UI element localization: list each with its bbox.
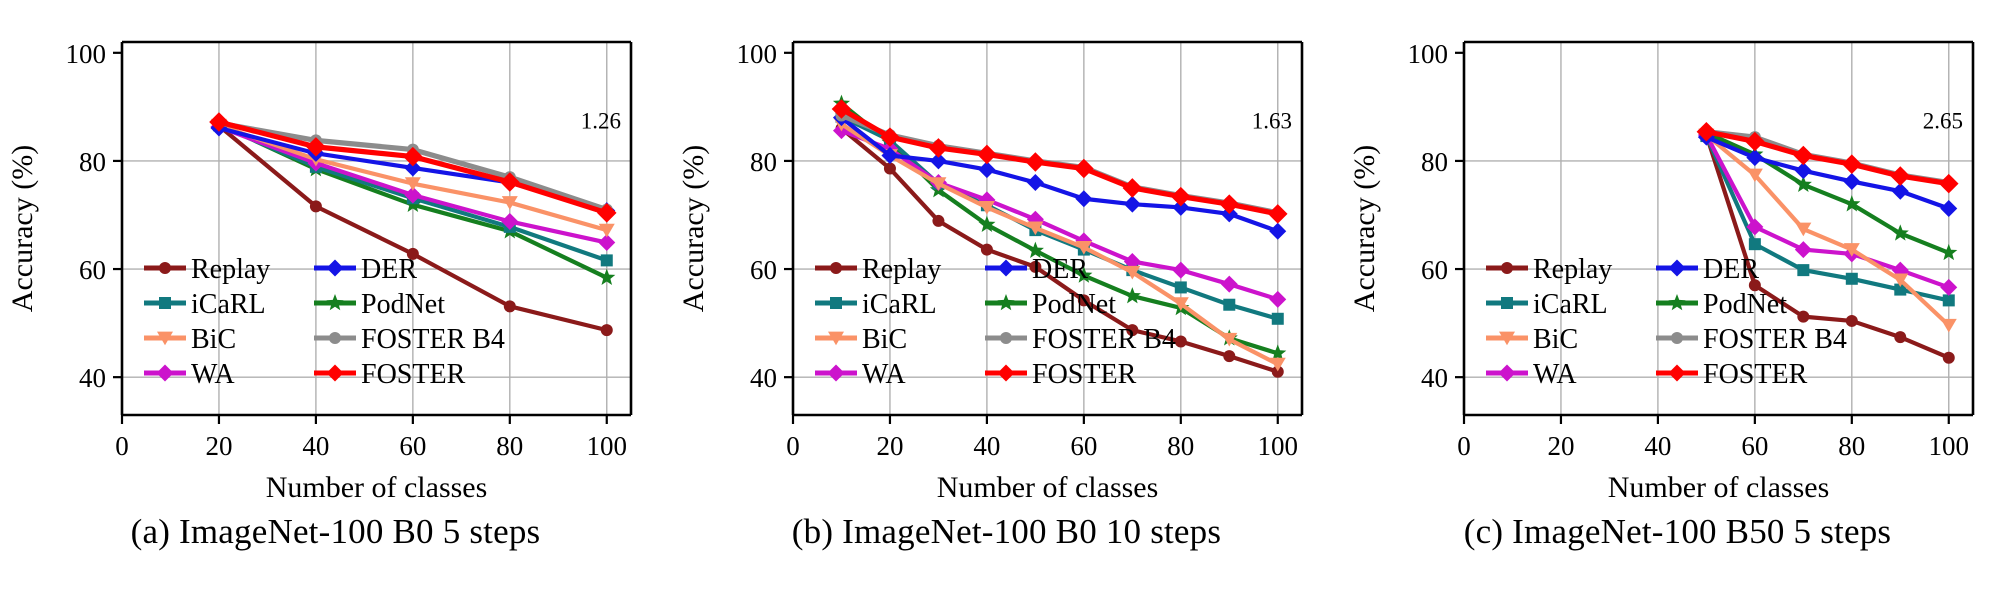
improvement-annotation: 2.65 — [1923, 108, 1963, 133]
x-axis-title: Number of classes — [1608, 471, 1830, 504]
data-point-marker — [1175, 281, 1187, 293]
data-point-marker — [830, 297, 842, 309]
x-tick-label: 0 — [115, 431, 129, 461]
data-point-marker — [329, 332, 341, 344]
chart-svg-a: 020406080100406080100Number of classesAc… — [0, 0, 671, 505]
legend-label: WA — [191, 359, 235, 390]
x-tick-label: 80 — [1838, 431, 1865, 461]
x-tick-label: 40 — [973, 431, 1000, 461]
data-point-marker — [1671, 332, 1683, 344]
improvement-annotation: 1.26 — [581, 108, 621, 133]
x-tick-label: 60 — [399, 431, 426, 461]
y-tick-label: 100 — [1408, 39, 1449, 69]
legend-label: Replay — [862, 254, 941, 285]
y-axis-title: Accuracy (%) — [6, 145, 39, 312]
data-point-marker — [159, 262, 171, 274]
data-point-marker — [159, 297, 171, 309]
x-tick-label: 0 — [786, 431, 800, 461]
data-point-marker — [830, 262, 842, 274]
data-point-marker — [932, 215, 944, 227]
y-tick-label: 80 — [1421, 147, 1448, 177]
data-point-marker — [884, 162, 896, 174]
legend-label: DER — [361, 254, 417, 285]
legend-label: FOSTER — [1703, 359, 1808, 390]
panel-caption-b: (b) ImageNet-100 B0 10 steps — [671, 512, 1342, 552]
x-tick-label: 40 — [1644, 431, 1671, 461]
legend-label: DER — [1032, 254, 1088, 285]
legend-label: FOSTER B4 — [361, 324, 505, 355]
legend-label: FOSTER B4 — [1032, 324, 1176, 355]
data-point-marker — [1943, 294, 1955, 306]
legend-label: PodNet — [1032, 289, 1116, 320]
legend-label: iCaRL — [862, 289, 937, 320]
y-tick-label: 60 — [79, 255, 106, 285]
chart-panel-b: 020406080100406080100Number of classesAc… — [671, 0, 1342, 610]
legend-label: iCaRL — [1533, 289, 1608, 320]
x-tick-label: 0 — [1457, 431, 1471, 461]
x-tick-label: 80 — [1167, 431, 1194, 461]
x-tick-label: 40 — [302, 431, 329, 461]
data-point-marker — [1501, 262, 1513, 274]
data-point-marker — [981, 244, 993, 256]
y-tick-label: 40 — [750, 363, 777, 393]
x-tick-label: 100 — [587, 431, 628, 461]
legend-label: Replay — [191, 254, 270, 285]
legend-label: PodNet — [361, 289, 445, 320]
data-point-marker — [1501, 297, 1513, 309]
data-point-marker — [1797, 264, 1809, 276]
x-tick-label: 100 — [1929, 431, 1970, 461]
legend-label: BiC — [1533, 324, 1578, 355]
improvement-annotation: 1.63 — [1252, 108, 1292, 133]
x-tick-label: 60 — [1741, 431, 1768, 461]
y-axis-title: Accuracy (%) — [1348, 145, 1381, 312]
chart-svg-b: 020406080100406080100Number of classesAc… — [671, 0, 1342, 505]
y-tick-label: 80 — [79, 147, 106, 177]
data-point-marker — [1846, 315, 1858, 327]
x-tick-label: 100 — [1258, 431, 1299, 461]
y-tick-label: 40 — [79, 363, 106, 393]
legend-label: BiC — [862, 324, 907, 355]
legend-label: PodNet — [1703, 289, 1787, 320]
data-point-marker — [310, 200, 322, 212]
data-point-marker — [1223, 299, 1235, 311]
data-point-marker — [1797, 311, 1809, 323]
data-point-marker — [1272, 313, 1284, 325]
data-point-marker — [1000, 332, 1012, 344]
data-point-marker — [601, 254, 613, 266]
chart-panel-a: 020406080100406080100Number of classesAc… — [0, 0, 671, 610]
x-axis-title: Number of classes — [266, 471, 488, 504]
data-point-marker — [1223, 350, 1235, 362]
panel-caption-a: (a) ImageNet-100 B0 5 steps — [0, 512, 671, 552]
panel-caption-c: (c) ImageNet-100 B50 5 steps — [1342, 512, 2013, 552]
y-tick-label: 100 — [737, 39, 778, 69]
x-tick-label: 20 — [1547, 431, 1574, 461]
x-tick-label: 60 — [1070, 431, 1097, 461]
legend-label: iCaRL — [191, 289, 266, 320]
x-tick-label: 20 — [205, 431, 232, 461]
chart-svg-c: 020406080100406080100Number of classesAc… — [1342, 0, 2013, 505]
y-tick-label: 60 — [1421, 255, 1448, 285]
x-tick-label: 20 — [876, 431, 903, 461]
x-tick-label: 80 — [496, 431, 523, 461]
legend-label: WA — [1533, 359, 1577, 390]
legend-label: Replay — [1533, 254, 1612, 285]
data-point-marker — [601, 324, 613, 336]
data-point-marker — [1894, 331, 1906, 343]
data-point-marker — [1846, 273, 1858, 285]
y-axis-title: Accuracy (%) — [677, 145, 710, 312]
x-axis-title: Number of classes — [937, 471, 1159, 504]
figure-container: 020406080100406080100Number of classesAc… — [0, 0, 2013, 610]
y-tick-label: 100 — [66, 39, 107, 69]
legend-label: WA — [862, 359, 906, 390]
legend-label: FOSTER — [1032, 359, 1137, 390]
y-tick-label: 80 — [750, 147, 777, 177]
data-point-marker — [1943, 352, 1955, 364]
data-point-marker — [1175, 335, 1187, 347]
legend-label: BiC — [191, 324, 236, 355]
y-tick-label: 60 — [750, 255, 777, 285]
y-tick-label: 40 — [1421, 363, 1448, 393]
legend-label: DER — [1703, 254, 1759, 285]
data-point-marker — [504, 300, 516, 312]
data-point-marker — [1749, 238, 1761, 250]
legend-label: FOSTER — [361, 359, 466, 390]
chart-panel-c: 020406080100406080100Number of classesAc… — [1342, 0, 2013, 610]
legend-label: FOSTER B4 — [1703, 324, 1847, 355]
